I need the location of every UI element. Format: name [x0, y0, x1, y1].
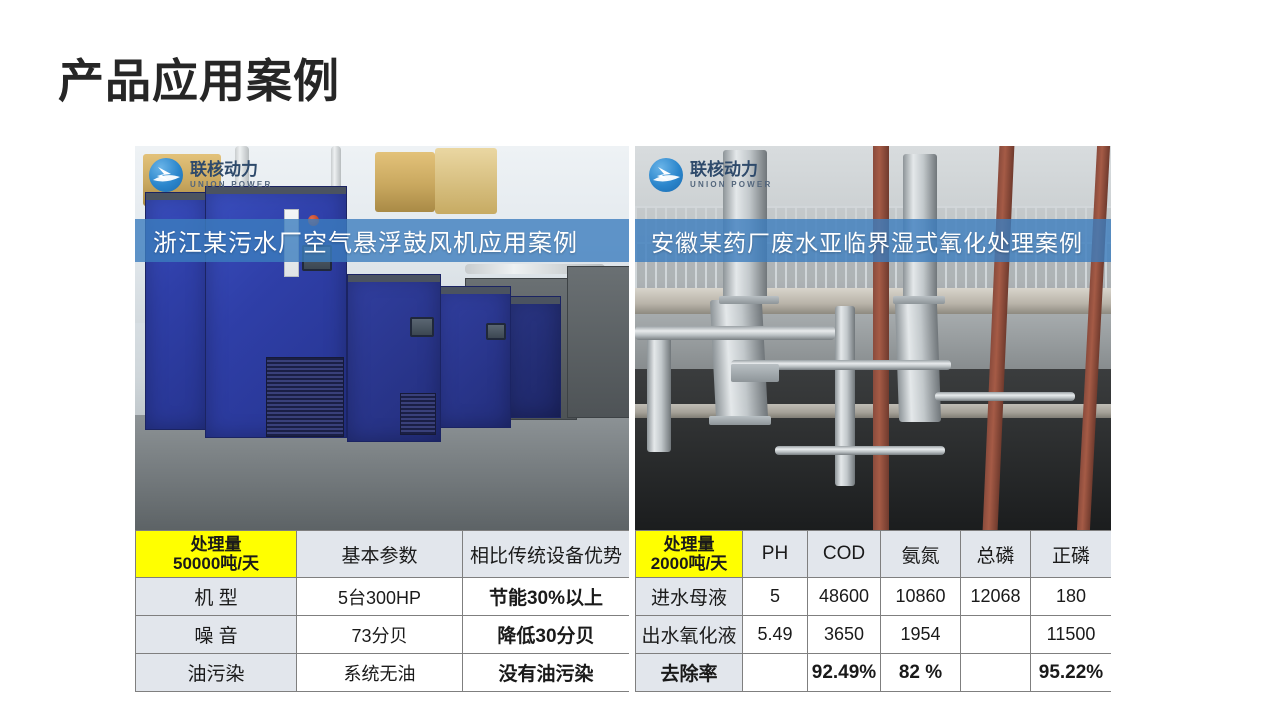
throughput-label: 处理量 — [664, 535, 715, 554]
table-row: 机 型 5台300HP 节能30%以上 — [136, 578, 630, 616]
row-advantage: 降低30分贝 — [463, 616, 630, 654]
throughput-header-cell: 处理量 2000吨/天 — [636, 531, 743, 578]
photo-blower-grille — [400, 393, 436, 435]
row-value-nh3n: 1954 — [881, 616, 961, 654]
brand-name-en: UNION POWER — [190, 181, 272, 189]
row-value: 系统无油 — [297, 654, 463, 692]
photo-blower-top — [146, 193, 208, 200]
column-header-advantage: 相比传统设备优势 — [463, 531, 630, 578]
table-row: 进水母液 5 48600 10860 12068 180 — [636, 578, 1112, 616]
case-banner-left-text: 浙江某污水厂空气悬浮鼓风机应用案例 — [135, 223, 578, 258]
brand-logo-text: 联核动力 UNION POWER — [190, 161, 272, 189]
photo-blower-top — [436, 287, 510, 294]
table-row: 出水氧化液 5.49 3650 1954 11500 — [636, 616, 1112, 654]
case-photo-blowers: 联核动力 UNION POWER 浙江某污水厂空气悬浮鼓风机应用案例 — [135, 146, 629, 530]
photo-blower-unit — [435, 286, 511, 428]
row-value-ph: 5.49 — [743, 616, 808, 654]
row-value-tp — [961, 654, 1031, 692]
case-banner-right: 安徽某药厂废水亚临界湿式氧化处理案例 — [635, 219, 1111, 262]
column-header-ph: PH — [743, 531, 808, 578]
photo-blower-unit — [347, 274, 441, 442]
row-value-op: 180 — [1031, 578, 1112, 616]
table-row: 噪 音 73分贝 降低30分贝 — [136, 616, 630, 654]
row-value-cod: 3650 — [808, 616, 881, 654]
photo-horizontal-pipe — [775, 446, 945, 455]
column-header-tp: 总磷 — [961, 531, 1031, 578]
photo-tank — [435, 148, 497, 214]
spec-table-left-wrap: 处理量 50000吨/天 基本参数 相比传统设备优势 机 型 5台300HP 节… — [135, 530, 629, 692]
photo-blower-grille — [266, 357, 344, 437]
photo-blower-screen — [486, 323, 506, 340]
photo-blower-screen — [410, 317, 434, 337]
row-value-tp — [961, 616, 1031, 654]
case-banner-left: 浙江某污水厂空气悬浮鼓风机应用案例 — [135, 219, 629, 262]
column-header-params: 基本参数 — [297, 531, 463, 578]
brand-name-cn: 联核动力 — [190, 161, 272, 178]
row-value-tp: 12068 — [961, 578, 1031, 616]
case-photo-plant: 联核动力 UNION POWER 安徽某药厂废水亚临界湿式氧化处理案例 — [635, 146, 1111, 530]
photo-flange — [719, 296, 779, 304]
spec-table-left: 处理量 50000吨/天 基本参数 相比传统设备优势 机 型 5台300HP 节… — [135, 530, 629, 692]
case-panel-left: 联核动力 UNION POWER 浙江某污水厂空气悬浮鼓风机应用案例 处理量 5… — [135, 146, 629, 692]
throughput-label: 处理量 — [191, 535, 242, 554]
spec-table-right-wrap: 处理量 2000吨/天 PH COD 氨氮 总磷 正磷 进水母液 5 48600… — [635, 530, 1111, 692]
row-value-cod: 92.49% — [808, 654, 881, 692]
photo-horizontal-pipe — [635, 326, 835, 340]
row-value-op: 11500 — [1031, 616, 1112, 654]
row-advantage: 节能30%以上 — [463, 578, 630, 616]
photo-valve-box — [731, 364, 779, 382]
row-value-ph — [743, 654, 808, 692]
row-value-cod: 48600 — [808, 578, 881, 616]
case-panel-right: 联核动力 UNION POWER 安徽某药厂废水亚临界湿式氧化处理案例 处理量 … — [635, 146, 1111, 692]
row-value: 5台300HP — [297, 578, 463, 616]
photo-cabinet — [567, 266, 629, 418]
row-label: 机 型 — [136, 578, 297, 616]
photo-vertical-duct — [835, 306, 855, 486]
photo-horizontal-pipe — [935, 392, 1075, 401]
row-value-op: 95.22% — [1031, 654, 1112, 692]
brand-name-en: UNION POWER — [690, 181, 772, 189]
row-value-nh3n: 10860 — [881, 578, 961, 616]
photo-blower-top — [348, 275, 440, 282]
photo-flange — [709, 416, 771, 425]
row-label: 进水母液 — [636, 578, 743, 616]
case-banner-right-text: 安徽某药厂废水亚临界湿式氧化处理案例 — [635, 224, 1083, 258]
brand-logo: 联核动力 UNION POWER — [649, 158, 772, 192]
row-label: 噪 音 — [136, 616, 297, 654]
photo-vertical-duct — [647, 332, 671, 452]
union-power-logo-icon — [649, 158, 683, 192]
row-value-nh3n: 82 % — [881, 654, 961, 692]
column-header-nh3n: 氨氮 — [881, 531, 961, 578]
row-label: 去除率 — [636, 654, 743, 692]
brand-name-cn: 联核动力 — [690, 161, 772, 178]
row-advantage: 没有油污染 — [463, 654, 630, 692]
row-value: 73分贝 — [297, 616, 463, 654]
union-power-logo-icon — [149, 158, 183, 192]
photo-blower-unit — [507, 296, 561, 418]
brand-logo: 联核动力 UNION POWER — [149, 158, 272, 192]
table-row: 油污染 系统无油 没有油污染 — [136, 654, 630, 692]
photo-blower-top — [508, 297, 560, 304]
table-header-row: 处理量 2000吨/天 PH COD 氨氮 总磷 正磷 — [636, 531, 1112, 578]
photo-tank — [375, 152, 435, 212]
throughput-value: 2000吨/天 — [651, 554, 728, 573]
column-header-op: 正磷 — [1031, 531, 1112, 578]
throughput-header-cell: 处理量 50000吨/天 — [136, 531, 297, 578]
photo-flange — [893, 296, 945, 304]
row-value-ph: 5 — [743, 578, 808, 616]
brand-logo-text: 联核动力 UNION POWER — [690, 161, 772, 189]
throughput-value: 50000吨/天 — [173, 554, 259, 573]
spec-table-right: 处理量 2000吨/天 PH COD 氨氮 总磷 正磷 进水母液 5 48600… — [635, 530, 1111, 692]
row-label: 出水氧化液 — [636, 616, 743, 654]
table-row: 去除率 92.49% 82 % 95.22% — [636, 654, 1112, 692]
photo-column — [873, 146, 889, 530]
table-header-row: 处理量 50000吨/天 基本参数 相比传统设备优势 — [136, 531, 630, 578]
column-header-cod: COD — [808, 531, 881, 578]
row-label: 油污染 — [136, 654, 297, 692]
page-title: 产品应用案例 — [58, 56, 340, 107]
